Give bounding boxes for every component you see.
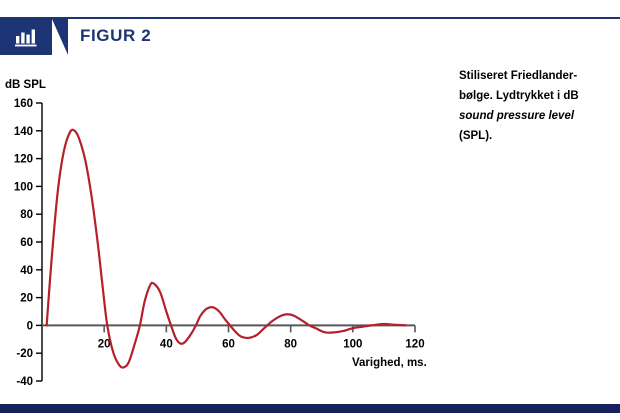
- x-tick-label: 60: [222, 338, 235, 350]
- x-tick-label: 20: [98, 338, 111, 350]
- x-tick-label: 80: [284, 338, 297, 350]
- figure-caption: Stiliseret Friedlander- bølge. Lydtrykke…: [459, 66, 611, 146]
- figure-badge-slant: [52, 19, 68, 55]
- caption-line-1: Stiliseret Friedlander-: [459, 66, 611, 86]
- x-tick-label: 100: [343, 338, 362, 350]
- caption-line-3-italic: sound pressure level: [459, 106, 611, 126]
- figure-panel: FIGUR 2 Stiliseret Friedlander- bølge. L…: [0, 0, 620, 420]
- data-series-friedlander: [47, 130, 406, 368]
- y-tick-label: 120: [14, 154, 33, 166]
- figure-header: FIGUR 2: [0, 19, 620, 55]
- caption-line-2: bølge. Lydtrykket i dB: [459, 86, 611, 106]
- y-tick-label: -20: [16, 348, 33, 360]
- x-tick-label: 120: [405, 338, 424, 350]
- bottom-accent-bar: [0, 404, 620, 413]
- caption-line-4: (SPL).: [459, 126, 611, 146]
- y-tick-label: -40: [16, 376, 33, 388]
- chart-area: dB SPL Varighed, ms. -40-200204060801001…: [0, 60, 450, 400]
- bar-chart-icon: [14, 27, 38, 47]
- y-tick-label: 0: [27, 320, 33, 332]
- y-tick-label: 20: [20, 293, 33, 305]
- y-tick-label: 140: [14, 126, 33, 138]
- y-tick-label: 80: [20, 209, 33, 221]
- page-title: FIGUR 2: [80, 26, 151, 46]
- y-axis: -40-20020406080100120140160: [14, 98, 42, 388]
- y-tick-label: 40: [20, 265, 33, 277]
- x-tick-label: 40: [160, 338, 173, 350]
- y-tick-label: 100: [14, 181, 33, 193]
- y-tick-label: 60: [20, 237, 33, 249]
- friedlander-wave-plot: -40-20020406080100120140160 204060801001…: [0, 60, 450, 400]
- y-tick-label: 160: [14, 98, 33, 110]
